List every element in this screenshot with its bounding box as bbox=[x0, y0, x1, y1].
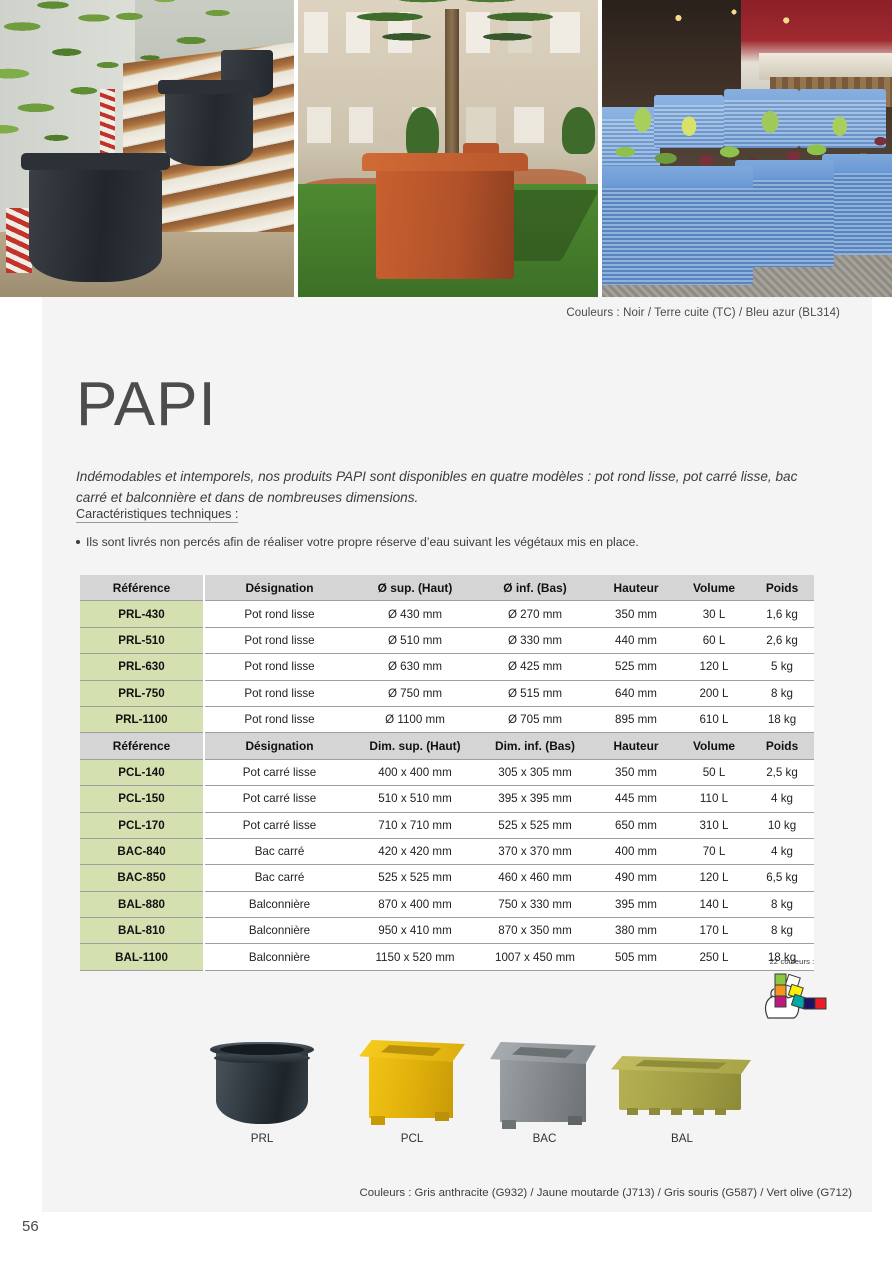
photo-blue-balconnieres bbox=[602, 0, 892, 297]
col-header-height-2: Hauteur bbox=[594, 733, 678, 759]
thumbnail-caption-bac: BAC bbox=[482, 1132, 607, 1145]
cell-dim-bottom: 460 x 460 mm bbox=[476, 865, 594, 891]
cell-dim-bottom: Ø 425 mm bbox=[476, 654, 594, 680]
col-header-designation-2: Désignation bbox=[204, 733, 354, 759]
cell-dim-bottom: 370 x 370 mm bbox=[476, 838, 594, 864]
cell-dim-bottom: Ø 705 mm bbox=[476, 706, 594, 732]
photo2-planter bbox=[376, 166, 514, 279]
cell-volume: 610 L bbox=[678, 706, 750, 732]
cell-reference: PRL-630 bbox=[80, 654, 204, 680]
col-header-reference-2: Référence bbox=[80, 733, 204, 759]
bac-body bbox=[500, 1054, 586, 1122]
cell-designation: Pot rond lisse bbox=[204, 601, 354, 627]
table-row: PRL-510 Pot rond lisse Ø 510 mm Ø 330 mm… bbox=[80, 627, 814, 653]
cell-height: 650 mm bbox=[594, 812, 678, 838]
cell-designation: Pot rond lisse bbox=[204, 706, 354, 732]
cell-volume: 50 L bbox=[678, 759, 750, 785]
col-header-reference: Référence bbox=[80, 575, 204, 601]
photo1-bamboo-front bbox=[0, 0, 159, 202]
col-header-weight: Poids bbox=[750, 575, 814, 601]
photo3-box-1 bbox=[602, 166, 753, 285]
pcl-foot-right bbox=[435, 1112, 449, 1121]
table-row: PCL-170 Pot carré lisse 710 x 710 mm 525… bbox=[80, 812, 814, 838]
cell-reference: PCL-140 bbox=[80, 759, 204, 785]
cell-weight: 2,6 kg bbox=[750, 627, 814, 653]
cell-designation: Bac carré bbox=[204, 865, 354, 891]
table-body-round: PRL-430 Pot rond lisse Ø 430 mm Ø 270 mm… bbox=[80, 601, 814, 733]
photo-terracotta-square-planter bbox=[298, 0, 598, 297]
table-row: BAL-880 Balconnière 870 x 400 mm 750 x 3… bbox=[80, 891, 814, 917]
cell-height: 400 mm bbox=[594, 838, 678, 864]
table-body-square: PCL-140 Pot carré lisse 400 x 400 mm 305… bbox=[80, 759, 814, 970]
cell-height: 640 mm bbox=[594, 680, 678, 706]
cell-dim-bottom: 395 x 395 mm bbox=[476, 786, 594, 812]
cell-designation: Pot rond lisse bbox=[204, 627, 354, 653]
cell-designation: Balconnière bbox=[204, 918, 354, 944]
content-panel: Couleurs : Noir / Terre cuite (TC) / Ble… bbox=[42, 297, 872, 1212]
table-row: BAL-1100 Balconnière 1150 x 520 mm 1007 … bbox=[80, 944, 814, 970]
table-row: PRL-430 Pot rond lisse Ø 430 mm Ø 270 mm… bbox=[80, 601, 814, 627]
cell-dim-bottom: Ø 515 mm bbox=[476, 680, 594, 706]
cell-dim-bottom: Ø 270 mm bbox=[476, 601, 594, 627]
cell-volume: 170 L bbox=[678, 918, 750, 944]
cell-weight: 8 kg bbox=[750, 891, 814, 917]
cell-weight: 6,5 kg bbox=[750, 865, 814, 891]
colours-top-caption: Couleurs : Noir / Terre cuite (TC) / Ble… bbox=[566, 307, 840, 319]
cell-dim-top: Ø 430 mm bbox=[354, 601, 476, 627]
table-head-square: Référence Désignation Dim. sup. (Haut) D… bbox=[80, 733, 814, 759]
bullet-point-icon bbox=[76, 540, 80, 544]
cell-weight: 10 kg bbox=[750, 812, 814, 838]
table-head-round: Référence Désignation Ø sup. (Haut) Ø in… bbox=[80, 575, 814, 601]
cell-dim-top: 870 x 400 mm bbox=[354, 891, 476, 917]
table-row: BAC-840 Bac carré 420 x 420 mm 370 x 370… bbox=[80, 838, 814, 864]
cell-designation: Pot carré lisse bbox=[204, 786, 354, 812]
cell-designation: Balconnière bbox=[204, 891, 354, 917]
col-header-volume: Volume bbox=[678, 575, 750, 601]
cell-dim-top: Ø 750 mm bbox=[354, 680, 476, 706]
cell-designation: Pot rond lisse bbox=[204, 680, 354, 706]
thumbnail-pcl: PCL bbox=[347, 1032, 477, 1157]
col-header-diameter-bottom: Ø inf. (Bas) bbox=[476, 575, 594, 601]
thumbnail-caption-pcl: PCL bbox=[347, 1132, 477, 1145]
cell-reference: PRL-750 bbox=[80, 680, 204, 706]
thumbnail-caption-bal: BAL bbox=[607, 1132, 757, 1145]
cell-reference: PRL-510 bbox=[80, 627, 204, 653]
colour-count-badge: 22 couleurs : bbox=[742, 957, 842, 1025]
cell-height: 380 mm bbox=[594, 918, 678, 944]
cell-height: 445 mm bbox=[594, 786, 678, 812]
cell-height: 525 mm bbox=[594, 654, 678, 680]
photo2-palm-fronds bbox=[352, 0, 562, 65]
col-header-diameter-top: Ø sup. (Haut) bbox=[354, 575, 476, 601]
cell-designation: Pot carré lisse bbox=[204, 759, 354, 785]
cell-volume: 30 L bbox=[678, 601, 750, 627]
cell-height: 490 mm bbox=[594, 865, 678, 891]
cell-reference: BAL-880 bbox=[80, 891, 204, 917]
table-row: BAL-810 Balconnière 950 x 410 mm 870 x 3… bbox=[80, 918, 814, 944]
cell-weight: 8 kg bbox=[750, 918, 814, 944]
cell-reference: PCL-150 bbox=[80, 786, 204, 812]
specifications-table: Référence Désignation Ø sup. (Haut) Ø in… bbox=[80, 575, 814, 971]
photo3-string-lights bbox=[654, 6, 828, 36]
cell-dim-top: Ø 630 mm bbox=[354, 654, 476, 680]
cell-height: 395 mm bbox=[594, 891, 678, 917]
bac-foot-left bbox=[502, 1120, 516, 1129]
specifications-table-wrapper: Référence Désignation Ø sup. (Haut) Ø in… bbox=[80, 575, 814, 971]
col-header-dim-bottom: Dim. inf. (Bas) bbox=[476, 733, 594, 759]
bal-feet bbox=[627, 1108, 731, 1115]
cell-volume: 120 L bbox=[678, 654, 750, 680]
table-row: PRL-1100 Pot rond lisse Ø 1100 mm Ø 705 … bbox=[80, 706, 814, 732]
cell-weight: 4 kg bbox=[750, 786, 814, 812]
cell-reference: BAL-810 bbox=[80, 918, 204, 944]
cell-dim-top: Ø 510 mm bbox=[354, 627, 476, 653]
technical-characteristics-heading: Caractéristiques techniques : bbox=[76, 507, 238, 523]
thumbnail-prl: PRL bbox=[202, 1032, 322, 1157]
technical-bullet-text: Ils sont livrés non percés afin de réali… bbox=[86, 535, 639, 549]
hand-colour-swatches-icon bbox=[754, 968, 830, 1020]
cell-volume: 250 L bbox=[678, 944, 750, 970]
product-thumbnails: PRL PCL BAC bbox=[182, 1032, 742, 1162]
bac-foot-right bbox=[568, 1116, 582, 1125]
cell-designation: Bac carré bbox=[204, 838, 354, 864]
cell-dim-top: Ø 1100 mm bbox=[354, 706, 476, 732]
col-header-height: Hauteur bbox=[594, 575, 678, 601]
cell-weight: 1,6 kg bbox=[750, 601, 814, 627]
photo2-shrub-right bbox=[562, 107, 595, 155]
cell-height: 440 mm bbox=[594, 627, 678, 653]
photo1-red-stripe bbox=[6, 208, 32, 273]
table-row: PRL-630 Pot rond lisse Ø 630 mm Ø 425 mm… bbox=[80, 654, 814, 680]
col-header-volume-2: Volume bbox=[678, 733, 750, 759]
cell-volume: 310 L bbox=[678, 812, 750, 838]
cell-reference: PCL-170 bbox=[80, 812, 204, 838]
cell-dim-bottom: 870 x 350 mm bbox=[476, 918, 594, 944]
technical-bullet-item: Ils sont livrés non percés afin de réali… bbox=[76, 535, 639, 549]
cell-dim-top: 400 x 400 mm bbox=[354, 759, 476, 785]
cell-reference: PRL-1100 bbox=[80, 706, 204, 732]
header-row-round: Référence Désignation Ø sup. (Haut) Ø in… bbox=[80, 575, 814, 601]
cell-volume: 140 L bbox=[678, 891, 750, 917]
catalog-page: Couleurs : Noir / Terre cuite (TC) / Ble… bbox=[0, 0, 892, 1262]
cell-weight: 5 kg bbox=[750, 654, 814, 680]
cell-dim-top: 420 x 420 mm bbox=[354, 838, 476, 864]
cell-designation: Pot rond lisse bbox=[204, 654, 354, 680]
colour-count-label: 22 couleurs : bbox=[742, 957, 842, 966]
cell-dim-bottom: 1007 x 450 mm bbox=[476, 944, 594, 970]
photo-banner bbox=[0, 0, 892, 297]
thumbnail-bal: BAL bbox=[607, 1032, 757, 1157]
table-row: PCL-150 Pot carré lisse 510 x 510 mm 395… bbox=[80, 786, 814, 812]
pcl-foot-left bbox=[371, 1116, 385, 1125]
photo-black-round-pots bbox=[0, 0, 294, 297]
cell-dim-top: 710 x 710 mm bbox=[354, 812, 476, 838]
cell-weight: 18 kg bbox=[750, 706, 814, 732]
pcl-pot-body bbox=[369, 1052, 453, 1118]
thumbnail-bac: BAC bbox=[482, 1032, 607, 1157]
cell-volume: 200 L bbox=[678, 680, 750, 706]
table-row: PCL-140 Pot carré lisse 400 x 400 mm 305… bbox=[80, 759, 814, 785]
cell-volume: 120 L bbox=[678, 865, 750, 891]
colours-bottom-caption: Couleurs : Gris anthracite (G932) / Jaun… bbox=[342, 1187, 852, 1199]
page-title: PAPI bbox=[76, 374, 217, 436]
thumbnail-caption-prl: PRL bbox=[202, 1132, 322, 1145]
cell-height: 350 mm bbox=[594, 759, 678, 785]
cell-dim-bottom: Ø 330 mm bbox=[476, 627, 594, 653]
cell-dim-top: 510 x 510 mm bbox=[354, 786, 476, 812]
cell-weight: 2,5 kg bbox=[750, 759, 814, 785]
cell-reference: BAC-850 bbox=[80, 865, 204, 891]
cell-dim-bottom: 525 x 525 mm bbox=[476, 812, 594, 838]
col-header-designation: Désignation bbox=[204, 575, 354, 601]
cell-reference: BAC-840 bbox=[80, 838, 204, 864]
cell-weight: 4 kg bbox=[750, 838, 814, 864]
photo3-awning bbox=[759, 53, 892, 80]
cell-designation: Balconnière bbox=[204, 944, 354, 970]
cell-dim-top: 950 x 410 mm bbox=[354, 918, 476, 944]
table-row: BAC-850 Bac carré 525 x 525 mm 460 x 460… bbox=[80, 865, 814, 891]
cell-volume: 60 L bbox=[678, 627, 750, 653]
col-header-dim-top: Dim. sup. (Haut) bbox=[354, 733, 476, 759]
header-row-square: Référence Désignation Dim. sup. (Haut) D… bbox=[80, 733, 814, 759]
intro-paragraph: Indémodables et intemporels, nos produit… bbox=[76, 466, 818, 508]
page-number: 56 bbox=[22, 1218, 39, 1235]
cell-reference: BAL-1100 bbox=[80, 944, 204, 970]
cell-height: 505 mm bbox=[594, 944, 678, 970]
cell-reference: PRL-430 bbox=[80, 601, 204, 627]
cell-dim-top: 1150 x 520 mm bbox=[354, 944, 476, 970]
cell-volume: 110 L bbox=[678, 786, 750, 812]
cell-designation: Pot carré lisse bbox=[204, 812, 354, 838]
cell-height: 350 mm bbox=[594, 601, 678, 627]
prl-pot-opening bbox=[220, 1044, 304, 1055]
table-row: PRL-750 Pot rond lisse Ø 750 mm Ø 515 mm… bbox=[80, 680, 814, 706]
cell-volume: 70 L bbox=[678, 838, 750, 864]
cell-dim-bottom: 750 x 330 mm bbox=[476, 891, 594, 917]
cell-dim-top: 525 x 525 mm bbox=[354, 865, 476, 891]
cell-weight: 8 kg bbox=[750, 680, 814, 706]
col-header-weight-2: Poids bbox=[750, 733, 814, 759]
cell-height: 895 mm bbox=[594, 706, 678, 732]
cell-dim-bottom: 305 x 305 mm bbox=[476, 759, 594, 785]
